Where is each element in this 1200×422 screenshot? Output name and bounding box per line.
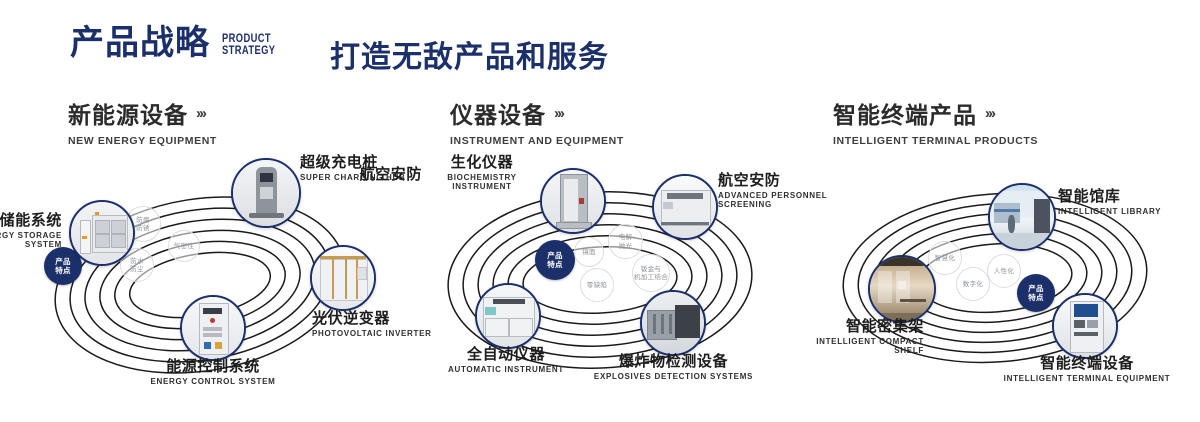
feature-bubble: 零缺陷 [580, 268, 614, 302]
chevron-right-icon: ››› [554, 105, 563, 122]
feature-bubble: 电解 抛光 [608, 224, 643, 259]
energy-control-system-photo [182, 297, 244, 359]
intelligent-compact-shelf-photo [870, 257, 934, 321]
core-bubble: 产品 特点 [1017, 274, 1055, 312]
node-energy-control-system[interactable] [180, 295, 246, 361]
label-biochemistry-instrument: 生化仪器 BIOCHEMISTRY INSTRUMENT [414, 154, 550, 192]
section-heading-instrument: 仪器设备 ››› INSTRUMENT AND EQUIPMENT [450, 96, 624, 147]
title-chinese: 产品战略 [70, 26, 210, 60]
feature-bubble: 镜面 [574, 237, 604, 267]
node-explosives-detection-systems[interactable] [640, 290, 706, 356]
node-advanced-personnel-screening[interactable] [652, 174, 718, 240]
section-heading-intelligent-terminal: 智能终端产品 ››› INTELLIGENT TERMINAL PRODUCTS [833, 96, 1038, 147]
node-label-en: EXPLOSIVES DETECTION SYSTEMS [576, 372, 771, 381]
node-label-cn: 全自动仪器 [416, 346, 596, 363]
biochemistry-instrument-photo [542, 170, 604, 232]
node-label-en: ENERGY STORAGE SYSTEM [0, 231, 62, 249]
node-super-charging-hub[interactable] [231, 158, 301, 228]
node-label-en: INTELLIGENT TERMINAL EQUIPMENT [982, 374, 1192, 383]
diagram-intelligent-terminal: 智慧化 数字化 人性化 产品 特点 智能馆库 INTELLIGENT LIBRA… [800, 150, 1200, 415]
feature-bubble: 钣金与 机加工结合 [632, 254, 670, 292]
section-title-en: INTELLIGENT TERMINAL PRODUCTS [833, 135, 1038, 147]
page-title: 产品战略 PRODUCT STRATEGY [70, 26, 290, 60]
title-english: PRODUCT STRATEGY [222, 32, 275, 60]
feature-bubble: 气密性 [168, 230, 200, 262]
feature-bubble: 人性化 [987, 254, 1021, 288]
chevron-right-icon: ››› [196, 105, 205, 122]
node-label-en: AUTOMATIC INSTRUMENT [416, 365, 596, 374]
node-intelligent-terminal-equipment[interactable] [1052, 293, 1118, 359]
node-energy-storage-system[interactable] [69, 200, 135, 266]
photovoltaic-inverter-photo [312, 247, 374, 309]
node-label-en: INTELLIGENT COMPACT SHELF [740, 337, 924, 355]
feature-bubble: 数字化 [956, 267, 990, 301]
poster-canvas: 产品战略 PRODUCT STRATEGY 打造无敌产品和服务 新能源设备 ››… [0, 0, 1200, 422]
node-label-cn: 生化仪器 [414, 154, 550, 171]
label-intelligent-terminal-equipment: 智能终端设备 INTELLIGENT TERMINAL EQUIPMENT [982, 355, 1192, 383]
node-label-cn: 智能终端设备 [982, 355, 1192, 372]
node-label-cn: 航空安防 [310, 166, 422, 183]
node-label-cn: 能源控制系统 [118, 358, 308, 375]
section-title-cn: 新能源设备 [68, 96, 188, 130]
section-title-en: NEW ENERGY EQUIPMENT [68, 135, 217, 147]
energy-storage-photo [71, 202, 133, 264]
label-explosives-detection-systems: 爆炸物检测设备 EXPLOSIVES DETECTION SYSTEMS [576, 353, 771, 381]
diagram-instrument: 产品 特点 镜面 电解 抛光 零缺陷 钣金与 机加工结合 航空安防 生化仪器 B… [400, 150, 800, 415]
node-photovoltaic-inverter[interactable] [310, 245, 376, 311]
label-automatic-instrument: 全自动仪器 AUTOMATIC INSTRUMENT [416, 346, 596, 374]
core-bubble: 产品 特点 [535, 240, 575, 280]
label-intelligent-library: 智能馆库 INTELLIGENT LIBRARY [1058, 188, 1198, 216]
label-aviation-security-left: 航空安防 [310, 166, 422, 185]
node-label-en: INTELLIGENT LIBRARY [1058, 207, 1198, 216]
super-charging-hub-photo [233, 160, 299, 226]
node-intelligent-library[interactable] [988, 183, 1056, 251]
section-title-cn: 智能终端产品 [833, 96, 977, 130]
explosives-detection-photo [642, 292, 704, 354]
automatic-instrument-photo [477, 285, 539, 347]
label-energy-storage-system: 储能系统 ENERGY STORAGE SYSTEM [0, 212, 62, 250]
node-label-cn: 储能系统 [0, 212, 62, 229]
section-heading-new-energy: 新能源设备 ››› NEW ENERGY EQUIPMENT [68, 96, 217, 147]
section-title-cn: 仪器设备 [450, 96, 546, 130]
node-intelligent-compact-shelf[interactable] [868, 255, 936, 323]
page-subtitle: 打造无敌产品和服务 [330, 32, 609, 76]
node-label-cn: 智能馆库 [1058, 188, 1198, 205]
node-automatic-instrument[interactable] [475, 283, 541, 349]
label-energy-control-system: 能源控制系统 ENERGY CONTROL SYSTEM [118, 358, 308, 386]
intelligent-library-photo [990, 185, 1054, 249]
node-label-cn: 智能密集架 [740, 318, 924, 335]
node-label-en: ENERGY CONTROL SYSTEM [118, 377, 308, 386]
chevron-right-icon: ››› [985, 105, 994, 122]
diagram-new-energy: 产品 特点 户外 防腐 防锈 防水 防尘 气密性 储能系统 ENERGY STO… [0, 150, 400, 415]
label-intelligent-compact-shelf: 智能密集架 INTELLIGENT COMPACT SHELF [740, 318, 924, 356]
section-title-en: INSTRUMENT AND EQUIPMENT [450, 135, 624, 147]
node-label-en: BIOCHEMISTRY INSTRUMENT [414, 173, 550, 191]
advanced-personnel-screening-photo [654, 176, 716, 238]
intelligent-terminal-equipment-photo [1054, 295, 1116, 357]
